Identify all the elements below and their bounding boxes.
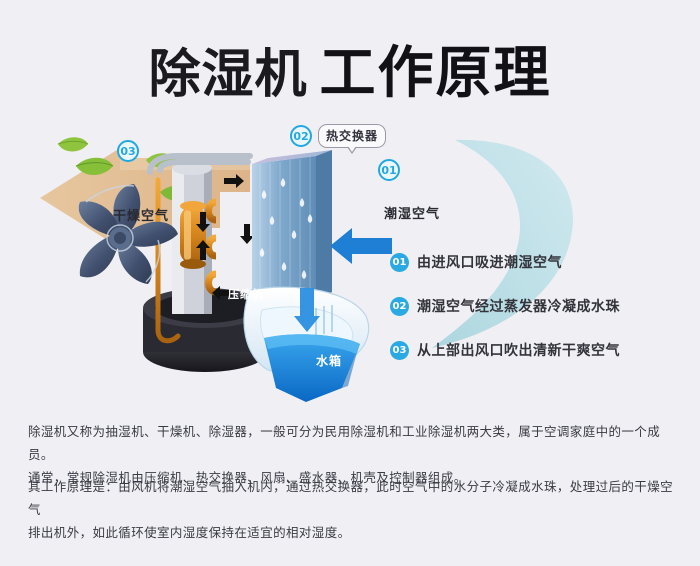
legend-badge-01: 01 (390, 253, 409, 272)
legend-list: 01 由进风口吸进潮湿空气 02 潮湿空气经过蒸发器冷凝成水珠 03 从上部出风… (390, 252, 690, 384)
paragraph-2-line-1: 其工作原理是：由风机将潮湿空气抽入机内，通过热交换器，此时空气中的水分子冷凝成水… (28, 475, 676, 521)
legend-badge-02: 02 (390, 297, 409, 316)
page-root: 除湿机工作原理 (0, 0, 700, 566)
legend-label-03: 从上部出风口吹出清新干爽空气 (417, 340, 620, 360)
legend-item-03: 03 从上部出风口吹出清新干爽空气 (390, 340, 690, 360)
label-humid-air: 潮湿空气 (384, 203, 440, 222)
title-part-2: 工作原理 (320, 28, 552, 109)
legend-label-01: 由进风口吸进潮湿空气 (417, 252, 562, 272)
paragraph-1-line-1: 除湿机又称为抽湿机、干燥机、除湿器，一般可分为民用除湿机和工业除湿机两大类，属于… (28, 420, 676, 466)
legend-item-01: 01 由进风口吸进潮湿空气 (390, 252, 690, 272)
badge-humid-air: 01 (378, 159, 400, 181)
callout-heat-exchanger: 热交换器 (318, 124, 386, 148)
description-paragraph-2: 其工作原理是：由风机将潮湿空气抽入机内，通过热交换器，此时空气中的水分子冷凝成水… (28, 475, 676, 544)
title-part-1: 除湿机 (148, 32, 307, 107)
legend-badge-03: 03 (390, 341, 409, 360)
label-compressor: 压缩机 (228, 286, 264, 302)
legend-label-02: 潮湿空气经过蒸发器冷凝成水珠 (417, 296, 620, 316)
paragraph-2-line-2: 排出机外，如此循环使室内湿度保持在适宜的相对湿度。 (28, 521, 676, 544)
badge-dry-air: 03 (117, 140, 139, 162)
label-water-tank: 水箱 (316, 352, 342, 369)
humid-air-arrow (330, 228, 392, 264)
label-dry-air: 干燥空气 (113, 205, 169, 224)
page-title: 除湿机工作原理 (0, 28, 700, 109)
badge-heat-exchanger: 02 (290, 125, 312, 147)
legend-item-02: 02 潮湿空气经过蒸发器冷凝成水珠 (390, 296, 690, 316)
